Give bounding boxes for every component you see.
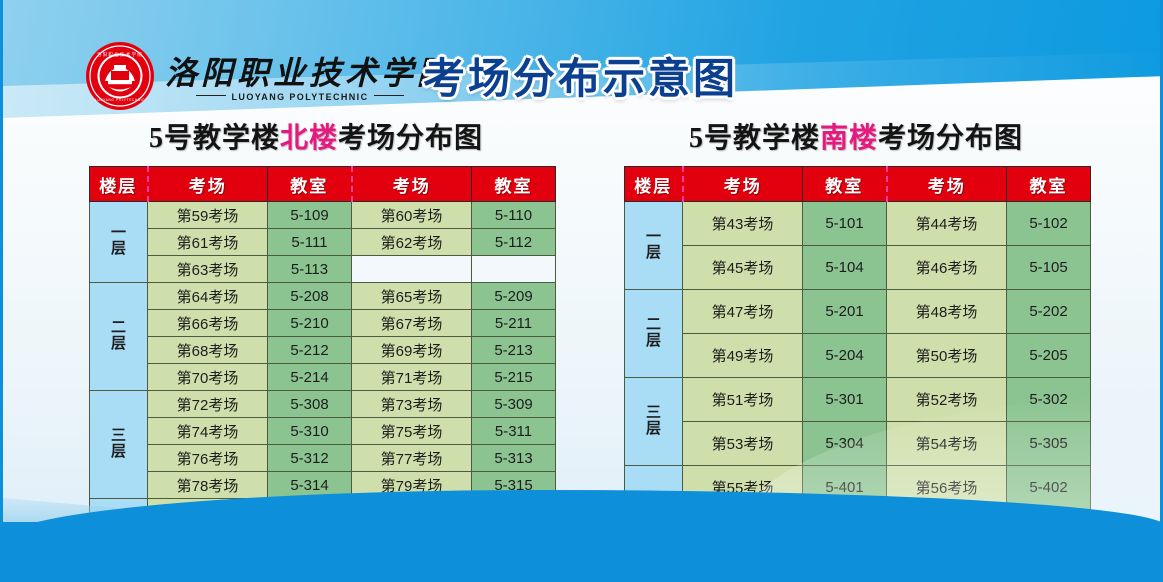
table-row: 第74考场5-310第75考场5-311 xyxy=(90,418,556,445)
floor-label: 一层 xyxy=(90,202,148,283)
classroom-cell: 5-204 xyxy=(803,334,887,378)
classroom-cell: 5-112 xyxy=(472,229,556,256)
table-header-row: 楼层考场教室考场教室 xyxy=(625,167,1091,202)
exam-room-cell: 第72考场 xyxy=(148,391,268,418)
table-head-south: 楼层考场教室考场教室 xyxy=(625,167,1091,202)
exam-room-cell: 第74考场 xyxy=(148,418,268,445)
floor-label: 一层 xyxy=(625,202,683,290)
classroom-cell: 5-208 xyxy=(268,283,352,310)
classroom-cell: 5-113 xyxy=(268,256,352,283)
exam-room-cell: 第63考场 xyxy=(148,256,268,283)
empty-cell xyxy=(352,256,472,283)
column-header-1: 考场 xyxy=(683,167,803,202)
empty-cell xyxy=(472,256,556,283)
heading-suffix-north: 考场分布图 xyxy=(338,123,483,154)
exam-room-cell: 第62考场 xyxy=(352,229,472,256)
svg-text:洛阳职业技术学院: 洛阳职业技术学院 xyxy=(97,51,143,58)
classroom-cell: 5-109 xyxy=(268,202,352,229)
table-row: 二层第47考场5-201第48考场5-202 xyxy=(625,290,1091,334)
classroom-cell: 5-205 xyxy=(1007,334,1091,378)
classroom-cell: 5-212 xyxy=(268,337,352,364)
heading-suffix-south: 考场分布图 xyxy=(878,123,1023,154)
classroom-cell: 5-301 xyxy=(803,378,887,422)
table-row: 三层第72考场5-308第73考场5-309 xyxy=(90,391,556,418)
institution-name-cn: 洛阳职业技术学院 xyxy=(165,48,435,94)
rule-right xyxy=(374,95,404,96)
table-row: 一层第59考场5-109第60考场5-110 xyxy=(90,202,556,229)
university-seal-icon: 洛阳职业技术学院 LUOYANG POLYTECHNIC xyxy=(85,41,155,111)
classroom-cell: 5-309 xyxy=(472,391,556,418)
table-row: 第61考场5-111第62考场5-112 xyxy=(90,229,556,256)
institution-name-en: LUOYANG POLYTECHNIC xyxy=(170,92,430,102)
exam-room-cell: 第70考场 xyxy=(148,364,268,391)
heading-prefix-north: 5号教学楼 xyxy=(149,123,280,154)
classroom-cell: 5-102 xyxy=(1007,202,1091,246)
exam-room-cell: 第68考场 xyxy=(148,337,268,364)
exam-room-cell: 第73考场 xyxy=(352,391,472,418)
heading-highlight-south: 南楼 xyxy=(820,123,878,154)
bottom-blue-bar xyxy=(3,522,1163,582)
exam-room-cell: 第69考场 xyxy=(352,337,472,364)
exam-room-cell: 第46考场 xyxy=(887,246,1007,290)
section-heading-north: 5号教学楼北楼考场分布图 xyxy=(149,119,483,159)
exam-room-cell: 第45考场 xyxy=(683,246,803,290)
column-header-4: 教室 xyxy=(1007,167,1091,202)
exam-room-cell: 第71考场 xyxy=(352,364,472,391)
exam-room-cell: 第75考场 xyxy=(352,418,472,445)
exam-room-cell: 第66考场 xyxy=(148,310,268,337)
classroom-cell: 5-201 xyxy=(803,290,887,334)
exam-room-cell: 第67考场 xyxy=(352,310,472,337)
poster-canvas: 洛阳职业技术学院 LUOYANG POLYTECHNIC 洛阳职业技术学院 LU… xyxy=(0,0,1163,582)
classroom-cell: 5-310 xyxy=(268,418,352,445)
exam-room-cell: 第47考场 xyxy=(683,290,803,334)
table-row: 二层第64考场5-208第65考场5-209 xyxy=(90,283,556,310)
column-header-4: 教室 xyxy=(472,167,556,202)
exam-room-cell: 第65考场 xyxy=(352,283,472,310)
table-row: 一层第43考场5-101第44考场5-102 xyxy=(625,202,1091,246)
classroom-cell: 5-311 xyxy=(472,418,556,445)
classroom-cell: 5-213 xyxy=(472,337,556,364)
page-title: 考场分布示意图 xyxy=(423,45,763,101)
table-row: 第63考场5-113 xyxy=(90,256,556,283)
classroom-cell: 5-104 xyxy=(803,246,887,290)
classroom-cell: 5-211 xyxy=(472,310,556,337)
column-header-0: 楼层 xyxy=(90,167,148,202)
exam-room-cell: 第48考场 xyxy=(887,290,1007,334)
heading-highlight-north: 北楼 xyxy=(280,123,338,154)
exam-room-cell: 第50考场 xyxy=(887,334,1007,378)
table-row: 第45考场5-104第46考场5-105 xyxy=(625,246,1091,290)
exam-room-cell: 第51考场 xyxy=(683,378,803,422)
floor-label: 二层 xyxy=(625,290,683,378)
rule-left xyxy=(196,95,226,96)
exam-room-cell: 第44考场 xyxy=(887,202,1007,246)
column-header-2: 教室 xyxy=(268,167,352,202)
exam-room-cell: 第77考场 xyxy=(352,445,472,472)
classroom-cell: 5-105 xyxy=(1007,246,1091,290)
svg-text:LUOYANG POLYTECHNIC: LUOYANG POLYTECHNIC xyxy=(95,98,145,102)
exam-room-cell: 第76考场 xyxy=(148,445,268,472)
floor-label: 二层 xyxy=(90,283,148,391)
classroom-cell: 5-210 xyxy=(268,310,352,337)
floor-label: 三层 xyxy=(90,391,148,499)
classroom-cell: 5-308 xyxy=(268,391,352,418)
column-header-3: 考场 xyxy=(352,167,472,202)
exam-room-cell: 第60考场 xyxy=(352,202,472,229)
classroom-cell: 5-312 xyxy=(268,445,352,472)
table-row: 第68考场5-212第69考场5-213 xyxy=(90,337,556,364)
classroom-cell: 5-209 xyxy=(472,283,556,310)
classroom-cell: 5-111 xyxy=(268,229,352,256)
classroom-cell: 5-101 xyxy=(803,202,887,246)
column-header-0: 楼层 xyxy=(625,167,683,202)
classroom-cell: 5-215 xyxy=(472,364,556,391)
table-header-row: 楼层考场教室考场教室 xyxy=(90,167,556,202)
heading-prefix-south: 5号教学楼 xyxy=(689,123,820,154)
exam-room-cell: 第78考场 xyxy=(148,472,268,499)
classroom-cell: 5-202 xyxy=(1007,290,1091,334)
table-row: 第70考场5-214第71考场5-215 xyxy=(90,364,556,391)
column-header-3: 考场 xyxy=(887,167,1007,202)
column-header-1: 考场 xyxy=(148,167,268,202)
column-header-2: 教室 xyxy=(803,167,887,202)
exam-room-cell: 第53考场 xyxy=(683,422,803,466)
table-head-north: 楼层考场教室考场教室 xyxy=(90,167,556,202)
floor-label: 三层 xyxy=(625,378,683,466)
section-heading-south: 5号教学楼南楼考场分布图 xyxy=(689,119,1023,159)
table-row: 第49考场5-204第50考场5-205 xyxy=(625,334,1091,378)
classroom-cell: 5-110 xyxy=(472,202,556,229)
exam-room-cell: 第49考场 xyxy=(683,334,803,378)
classroom-cell: 5-313 xyxy=(472,445,556,472)
table-row: 第76考场5-312第77考场5-313 xyxy=(90,445,556,472)
exam-room-cell: 第61考场 xyxy=(148,229,268,256)
exam-room-cell: 第59考场 xyxy=(148,202,268,229)
classroom-cell: 5-214 xyxy=(268,364,352,391)
exam-room-cell: 第64考场 xyxy=(148,283,268,310)
exam-room-cell: 第43考场 xyxy=(683,202,803,246)
table-row: 第66考场5-210第67考场5-211 xyxy=(90,310,556,337)
institution-en-text: LUOYANG POLYTECHNIC xyxy=(232,92,369,102)
